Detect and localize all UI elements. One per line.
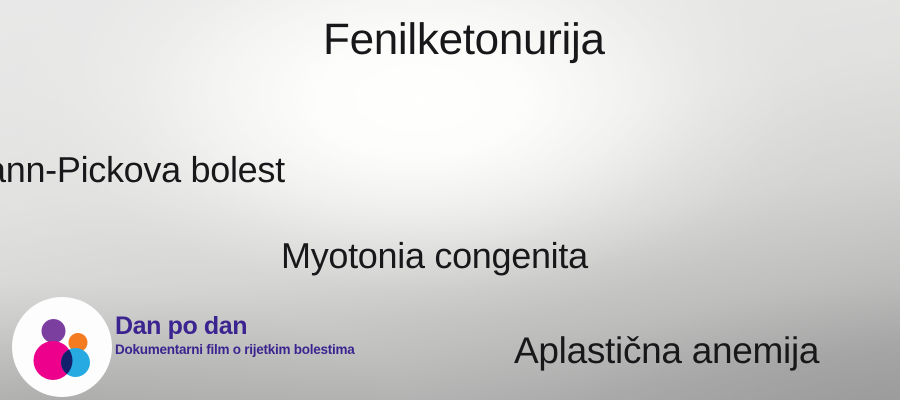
logo-title: Dan po dan — [115, 314, 370, 340]
logo-circles-icon — [12, 297, 112, 397]
logo-subtitle: Dokumentarni film o rijetkim bolestima — [115, 343, 370, 358]
logo-watermark: Dan po dan Dokumentarni film o rijetkim … — [12, 297, 372, 397]
logo-text-block: Dan po dan Dokumentarni film o rijetkim … — [115, 314, 370, 357]
disease-label-aplasticna-anemija: Aplastična anemija — [514, 330, 819, 372]
disease-label-fenilketonurija: Fenilketonurija — [323, 15, 605, 65]
logo-circle-purple — [42, 319, 66, 343]
video-frame: Fenilketonurija ann-Pickova bolest Myoto… — [0, 0, 900, 400]
disease-label-niemann-pickova-bolest: ann-Pickova bolest — [0, 149, 285, 191]
disease-label-myotonia-congenita: Myotonia congenita — [281, 235, 588, 277]
